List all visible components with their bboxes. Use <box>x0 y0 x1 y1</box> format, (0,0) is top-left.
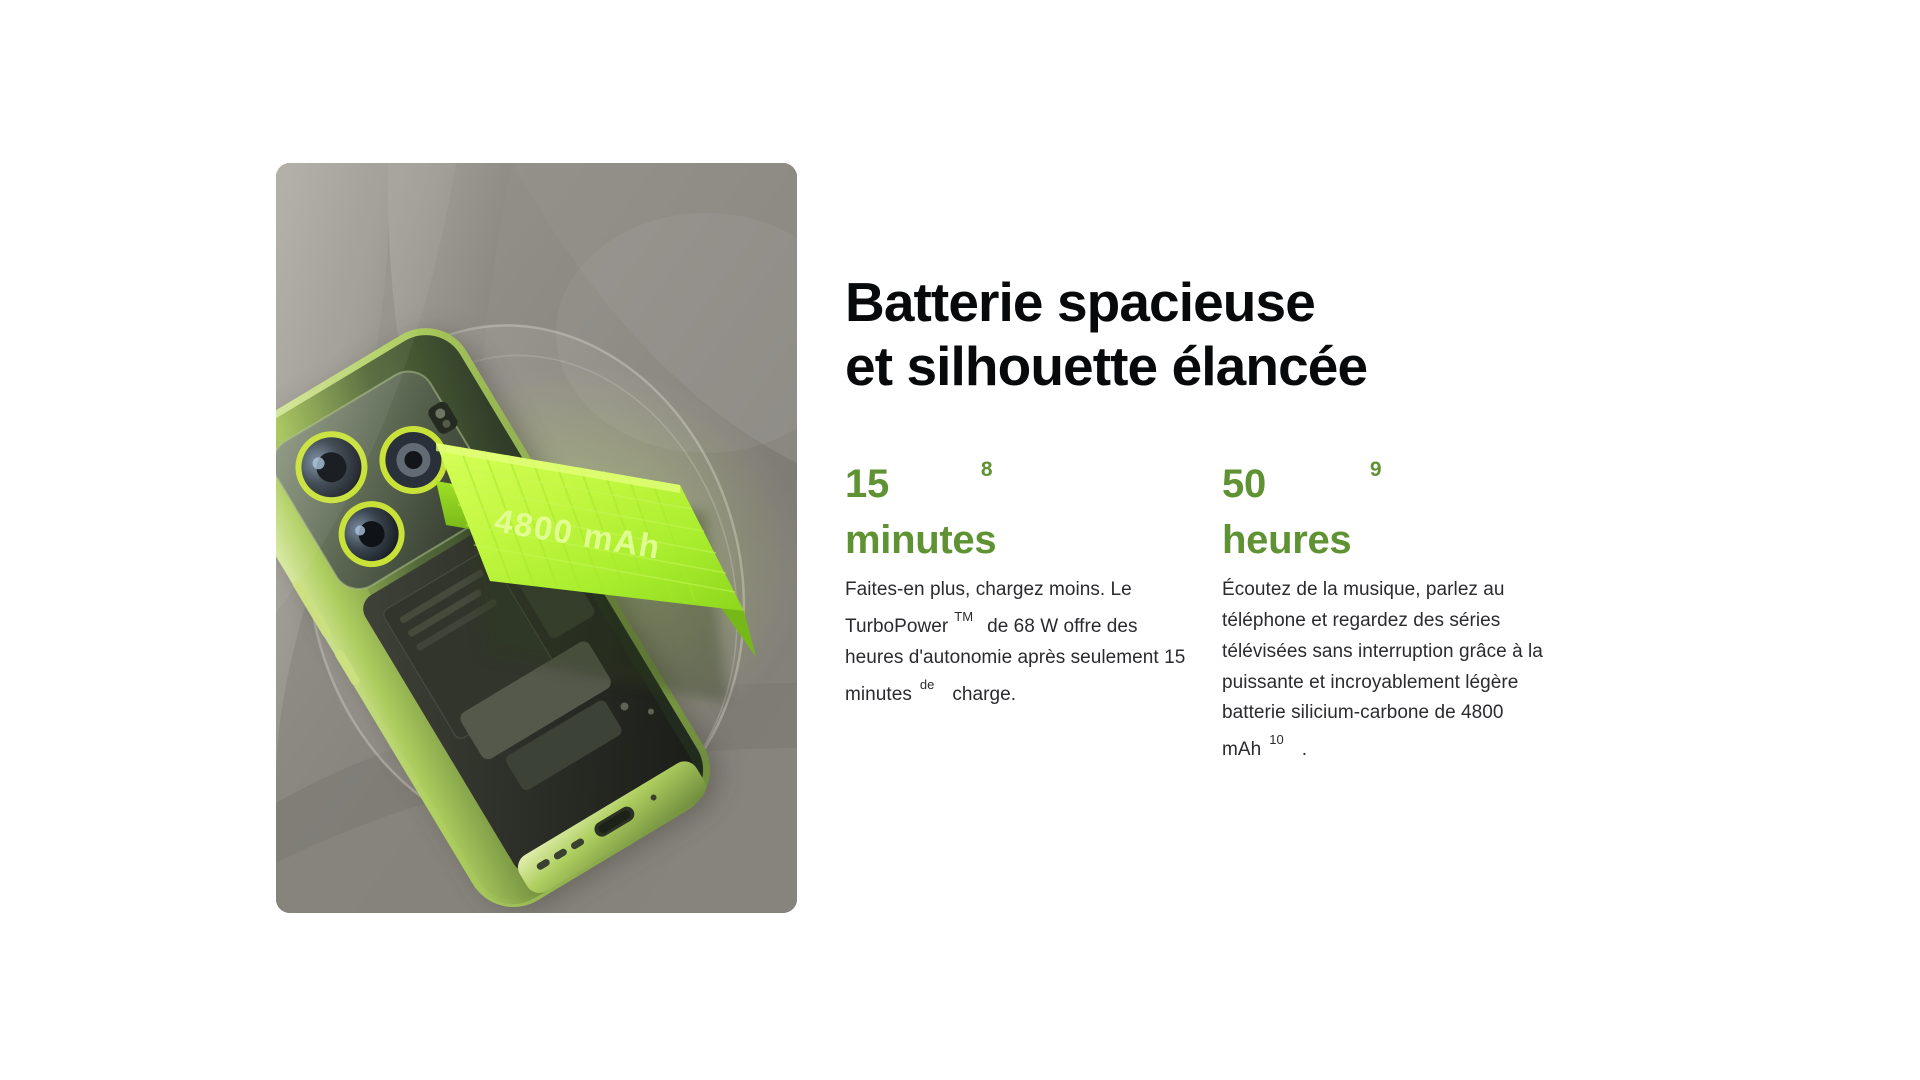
stat-value-charge: 15 <box>845 462 889 506</box>
stat-value-battery-life: 50 <box>1222 462 1266 506</box>
page-root: 4800 mAh Batterie spacieuse et silhouett… <box>0 0 1920 1080</box>
product-illustration: 4800 mAh <box>276 163 797 913</box>
stat-body-tail-charge: charge. <box>952 684 1016 705</box>
trademark-marker: TM <box>948 609 987 624</box>
stat-block-charge: 158 minutes Faites-en plus, chargez moin… <box>845 455 1222 766</box>
stat-body-tail-battery-life: . <box>1302 739 1307 760</box>
stat-unit-charge: minutes <box>845 518 996 562</box>
stat-figure-charge: 158 minutes <box>845 455 1200 570</box>
stat-block-battery-life: 509 heures Écoutez de la musique, parlez… <box>1222 455 1602 766</box>
content-column: Batterie spacieuse et silhouette élancée… <box>845 270 1865 766</box>
stat-unit-battery-life: heures <box>1222 518 1351 562</box>
product-image-panel: 4800 mAh <box>276 163 797 913</box>
stat-footnote-marker-9: 9 <box>1370 458 1382 481</box>
footnote-marker-10: 10 <box>1261 732 1301 747</box>
section-headline: Batterie spacieuse et silhouette élancée <box>845 270 1865 399</box>
stat-figure-battery-life: 509 heures <box>1222 455 1580 570</box>
stat-description-battery-life: Écoutez de la musique, parlez au télépho… <box>1222 575 1580 766</box>
footnote-marker-de: de <box>912 677 952 692</box>
stat-footnote-marker-8: 8 <box>981 458 993 481</box>
stat-description-charge: Faites-en plus, chargez moins. Le TurboP… <box>845 575 1200 710</box>
stats-row: 158 minutes Faites-en plus, chargez moin… <box>845 455 1865 766</box>
